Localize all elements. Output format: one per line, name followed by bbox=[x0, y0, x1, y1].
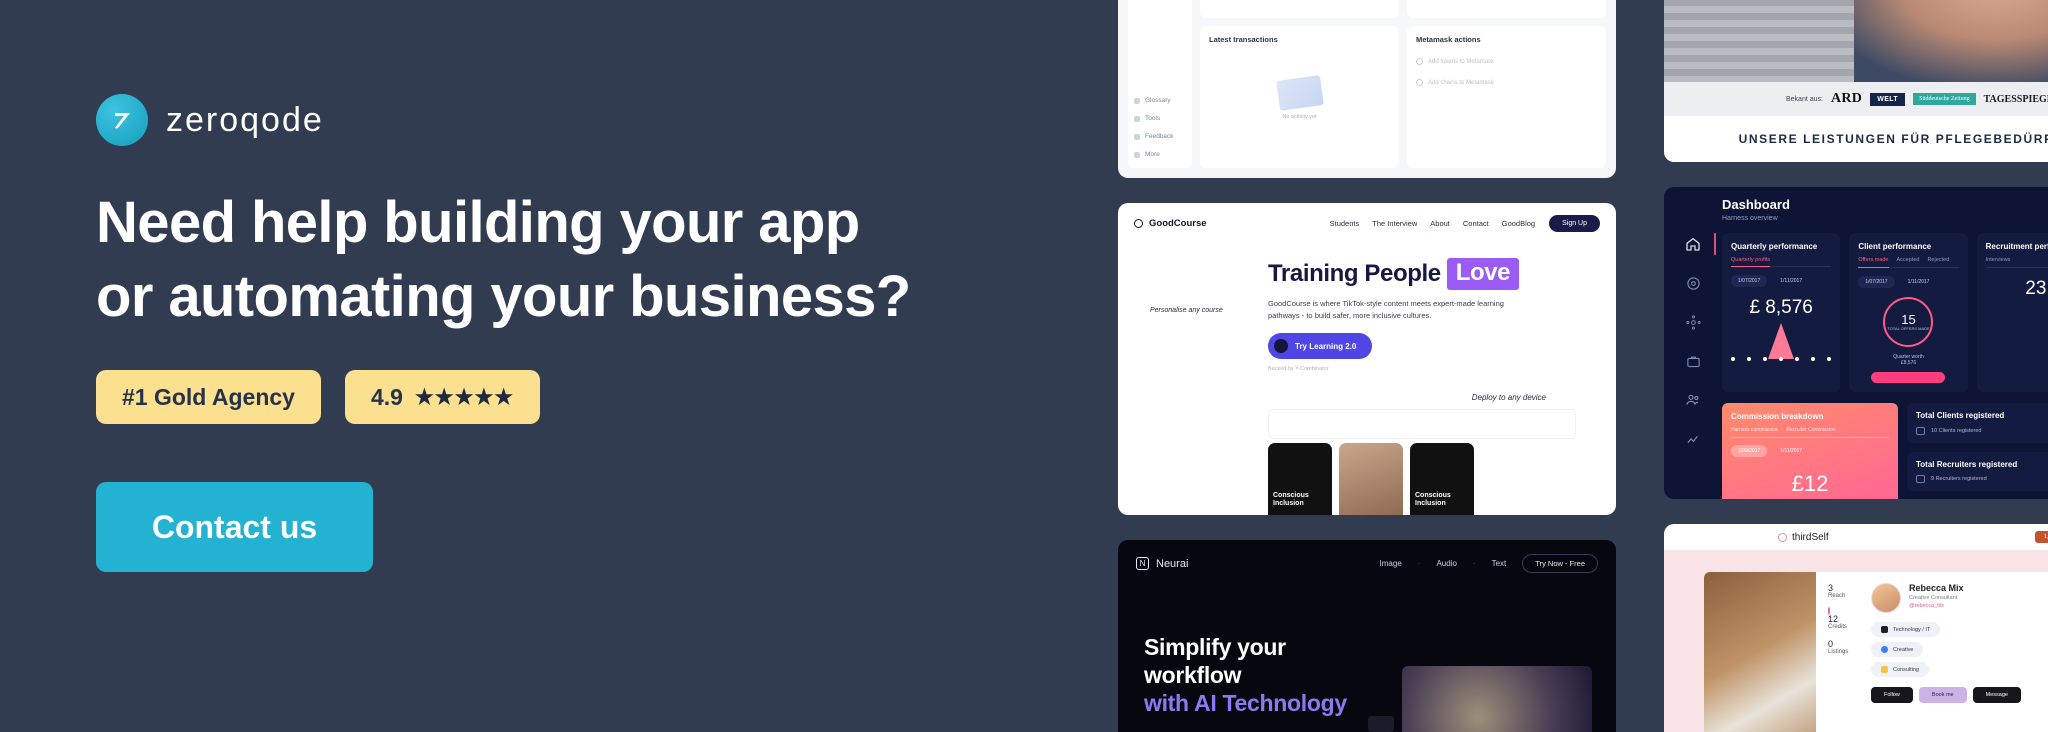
nav-item[interactable]: The Interview bbox=[1372, 219, 1417, 228]
list-item-recruiters: Total Recruiters registered 9 Recruiters… bbox=[1907, 452, 2048, 491]
panel-recruitment-performance: Recruitment performance Interviews 23 bbox=[1977, 233, 2048, 392]
quarter-worth-value: £8,576 bbox=[1858, 360, 1958, 366]
empty-text: No activity yet bbox=[1282, 114, 1316, 120]
stat-label: Listings bbox=[1828, 649, 1848, 655]
list-item[interactable]: Add chains to Metamask bbox=[1416, 72, 1597, 93]
goodcourse-headline: Training People Love bbox=[1268, 258, 1590, 290]
view-details-button[interactable] bbox=[1871, 372, 1945, 383]
ring-label: TOTAL OFFERS MADE bbox=[1887, 327, 1929, 332]
phone-mockup: Conscious Inclusion bbox=[1268, 443, 1332, 515]
network-icon bbox=[1916, 475, 1925, 483]
goodcourse-nav: GoodCourse Students The Interview About … bbox=[1118, 203, 1616, 244]
care-tagline: UNSERE LEISTUNGEN FÜR PFLEGEBEDÜRFTIGE bbox=[1664, 116, 2048, 162]
nav-item[interactable]: Students bbox=[1330, 219, 1360, 228]
dashboard-panel-row: Quarterly performance Quarterly profits … bbox=[1722, 233, 2048, 392]
brand-label: Neurai bbox=[1156, 558, 1188, 570]
list-detail: 10 Clients registered bbox=[1931, 428, 1981, 434]
button-label: Try Learning 2.0 bbox=[1295, 342, 1356, 351]
tab-quarterly-profits[interactable]: Quarterly profits bbox=[1731, 257, 1770, 267]
badge-label: #1 Gold Agency bbox=[122, 384, 295, 411]
headline-line-3: with AI Technology bbox=[1144, 690, 1347, 716]
message-button[interactable]: Message bbox=[1973, 687, 2021, 703]
panel-title: Recruitment performance bbox=[1986, 242, 2048, 251]
people-icon[interactable] bbox=[1684, 391, 1702, 409]
headline-line-2: workflow bbox=[1144, 662, 1241, 688]
headline-text: Training People bbox=[1268, 260, 1441, 288]
crypto-checks-panel: Extended wallet investigation Wallet san… bbox=[1407, 0, 1606, 18]
panel-title: Quarterly performance bbox=[1731, 242, 1831, 251]
neurai-chip bbox=[1368, 716, 1394, 732]
neurai-portrait-image bbox=[1402, 666, 1592, 732]
headline-line-1: Simplify your bbox=[1144, 634, 1286, 660]
action-label: Add chains to Metamask bbox=[1428, 80, 1494, 86]
stat-label: Credits bbox=[1828, 624, 1847, 630]
portfolio-column-2: Bekant aus: ARD WELT Süddeutsche Zeitung… bbox=[1664, 0, 2048, 732]
panel-title: Latest transactions bbox=[1209, 35, 1390, 44]
goodcourse-panel-bar bbox=[1268, 409, 1576, 439]
headline-highlight: Love bbox=[1447, 258, 1519, 290]
profile-panel: 3Reach 12Credits 0Listings Rebecca Mix C… bbox=[1704, 572, 2048, 732]
goodcourse-subtext: GoodCourse is where TikTok-style content… bbox=[1268, 298, 1518, 322]
book-me-button[interactable]: Book me bbox=[1919, 687, 1967, 703]
stat-value: 3 bbox=[1828, 583, 1860, 593]
list-item[interactable]: More bbox=[1134, 151, 1186, 158]
list-title: Total Recruiters registered bbox=[1916, 460, 2048, 469]
nav-links: Image · Audio · Text bbox=[1380, 559, 1507, 568]
star-rating-icon: ★★★★★ bbox=[415, 385, 514, 410]
list-item[interactable]: Add tokens to Metamask bbox=[1416, 51, 1597, 72]
circle-icon bbox=[1778, 533, 1787, 542]
spike-chart bbox=[1731, 325, 1831, 365]
follow-button[interactable]: Follow bbox=[1871, 687, 1913, 703]
thirdself-band: 3Reach 12Credits 0Listings Rebecca Mix C… bbox=[1664, 550, 2048, 732]
dashboard-body: Dashboard Harness overview Quarterly per… bbox=[1722, 197, 2048, 499]
portfolio-column-1: Glossary Tools Feedback More Metis$0.07 … bbox=[1118, 0, 1616, 732]
nav-separator: · bbox=[1473, 559, 1476, 568]
stat-value: 0 bbox=[1828, 639, 1860, 649]
press-logo-welt: WELT bbox=[1870, 93, 1905, 106]
commission-value: £12 bbox=[1731, 471, 1889, 497]
tag-label: Creative bbox=[1893, 647, 1913, 653]
annotation-personalise: Personalise any course bbox=[1150, 307, 1223, 314]
search-icon bbox=[1416, 58, 1423, 65]
date-chip[interactable]: 1/07/2017 bbox=[1858, 276, 1894, 288]
nav-item[interactable]: Audio bbox=[1436, 559, 1456, 568]
backed-by-label: Backed by Y-Combinator bbox=[1268, 366, 1590, 372]
background-slats bbox=[1664, 0, 1874, 82]
briefcase-icon[interactable] bbox=[1684, 352, 1702, 370]
date-chip[interactable]: 1/11/2017 bbox=[1773, 275, 1809, 287]
list-item[interactable]: Glossary bbox=[1134, 97, 1186, 104]
circle-icon bbox=[1134, 219, 1143, 228]
tag-technology[interactable]: Technology / IT bbox=[1871, 622, 1940, 637]
annotation-deploy: Deploy to any device bbox=[1472, 393, 1546, 403]
crypto-sidebar: Glossary Tools Feedback More bbox=[1128, 0, 1192, 168]
tab-recruiter-commission[interactable]: Recruiter Commission bbox=[1786, 427, 1835, 433]
badge-icon bbox=[1274, 339, 1288, 353]
tag-label: Technology / IT bbox=[1893, 627, 1930, 633]
press-logo-ard: ARD bbox=[1831, 91, 1862, 107]
panel-title: Client performance bbox=[1858, 242, 1958, 251]
portfolio-card-dashboard[interactable]: Dashboard Harness overview Quarterly per… bbox=[1664, 187, 2048, 499]
list-item[interactable]: Feedback bbox=[1134, 133, 1186, 140]
list-item[interactable]: Tools bbox=[1134, 115, 1186, 122]
hero-page: zeroqode Need help building your app or … bbox=[0, 0, 2048, 732]
nav-item[interactable]: Text bbox=[1492, 559, 1507, 568]
neurai-mark-icon: N bbox=[1136, 557, 1149, 570]
desk-photo bbox=[1704, 572, 1816, 732]
sidebar-item-label: Feedback bbox=[1145, 133, 1174, 140]
contact-us-button[interactable]: Contact us bbox=[96, 482, 373, 572]
date-chip[interactable]: 1/11/2017 bbox=[1773, 445, 1809, 457]
press-logos-bar: Bekant aus: ARD WELT Süddeutsche Zeitung… bbox=[1664, 82, 2048, 116]
portfolio-card-crypto[interactable]: Glossary Tools Feedback More Metis$0.07 … bbox=[1118, 0, 1616, 178]
neurai-nav: N Neurai Image · Audio · Text Try Now - … bbox=[1118, 540, 1616, 587]
nav-separator: · bbox=[1418, 559, 1421, 568]
panel-commission-breakdown: Commission breakdown Harness commission … bbox=[1722, 403, 1898, 499]
panel-title: Metamask actions bbox=[1416, 35, 1597, 44]
goodcourse-logo: GoodCourse bbox=[1134, 218, 1207, 229]
phone-caption: Conscious Inclusion bbox=[1415, 492, 1469, 508]
badge-row: #1 Gold Agency 4.9 ★★★★★ bbox=[96, 370, 1110, 424]
tab-harness-commission[interactable]: Harness commission bbox=[1731, 427, 1777, 433]
portfolio-card-thirdself[interactable]: thirdSelf 1,312 users currently viewing … bbox=[1664, 524, 2048, 732]
tab-rejected[interactable]: Rejected bbox=[1927, 257, 1949, 263]
panel-title: Commission breakdown bbox=[1731, 412, 1889, 421]
avatar bbox=[1871, 583, 1901, 613]
thirdself-logo: thirdSelf bbox=[1778, 532, 1829, 543]
tag-creative[interactable]: Creative bbox=[1871, 642, 1923, 657]
phone-mockup: Conscious Inclusion bbox=[1410, 443, 1474, 515]
action-label: Add tokens to Metamask bbox=[1428, 59, 1494, 65]
tab-offers-made[interactable]: Offers made bbox=[1858, 257, 1888, 268]
dashboard-title: Dashboard bbox=[1722, 197, 2048, 212]
portfolio-card-goodcourse[interactable]: GoodCourse Students The Interview About … bbox=[1118, 203, 1616, 515]
list-title: Total Clients registered bbox=[1916, 411, 2048, 420]
signup-button[interactable]: Sign Up bbox=[1549, 215, 1600, 232]
profile-name: Rebecca Mix bbox=[1909, 583, 1964, 593]
briefcase-icon bbox=[1916, 427, 1925, 435]
panel-quarterly-performance: Quarterly performance Quarterly profits … bbox=[1722, 233, 1840, 392]
try-now-button[interactable]: Try Now - Free bbox=[1522, 554, 1598, 573]
nav-item[interactable]: Contact bbox=[1463, 219, 1489, 228]
dashboard-sidebar-rail bbox=[1664, 197, 1722, 499]
phone-caption: Conscious Inclusion bbox=[1273, 492, 1327, 508]
sidebar-item-label: Tools bbox=[1145, 115, 1160, 122]
home-icon[interactable] bbox=[1684, 235, 1702, 253]
offers-ring-gauge: 15 TOTAL OFFERS MADE bbox=[1883, 297, 1933, 347]
sidebar-item-label: Glossary bbox=[1145, 97, 1171, 104]
list-detail: 9 Recruiters registered bbox=[1931, 476, 1987, 482]
target-icon[interactable] bbox=[1684, 274, 1702, 292]
quarter-worth-block: Quarter worth £8,576 bbox=[1858, 354, 1958, 366]
profile-details: Rebecca Mix Creative Consultant @rebecca… bbox=[1871, 583, 2045, 732]
brand-label: thirdSelf bbox=[1792, 532, 1829, 543]
tag-consulting[interactable]: Consulting bbox=[1871, 662, 1929, 677]
date-chip[interactable]: 1/09/2017 bbox=[1731, 445, 1767, 457]
rating-value: 4.9 bbox=[371, 384, 403, 411]
live-viewers-badge: 1,312 users currently viewing right now bbox=[2035, 531, 2048, 543]
nav-item[interactable]: Image bbox=[1380, 559, 1402, 568]
try-learning-button[interactable]: Try Learning 2.0 bbox=[1268, 333, 1372, 359]
press-logo-sz: Süddeutsche Zeitung bbox=[1913, 93, 1976, 105]
crypto-token-panel: Metis$0.07 BSC$0.34 Celo$0.60 bbox=[1200, 0, 1399, 18]
brand-label: GoodCourse bbox=[1149, 218, 1207, 229]
profile-actions: Follow Book me Message bbox=[1871, 687, 2045, 703]
press-label: Bekant aus: bbox=[1786, 96, 1823, 103]
sidebar-item-label: More bbox=[1145, 151, 1160, 158]
metric-value: £ 8,576 bbox=[1731, 297, 1831, 319]
hero-section: zeroqode Need help building your app or … bbox=[0, 0, 1110, 732]
goodcourse-phone-mockups: Conscious Inclusion Conscious Inclusion bbox=[1268, 443, 1474, 515]
date-chip[interactable]: 1/11/2017 bbox=[1901, 276, 1937, 288]
search-icon bbox=[1416, 79, 1423, 86]
person-photo bbox=[1854, 0, 2048, 82]
portfolio-card-neurai[interactable]: N Neurai Image · Audio · Text Try Now - … bbox=[1118, 540, 1616, 732]
list-item-clients: Total Clients registered 10 Clients regi… bbox=[1907, 403, 2048, 443]
portfolio-card-german-care[interactable]: Bekant aus: ARD WELT Süddeutsche Zeitung… bbox=[1664, 0, 2048, 162]
profile-tags: Technology / IT Creative Consulting bbox=[1871, 622, 2045, 677]
nav-links: Students The Interview About Contact Goo… bbox=[1330, 219, 1535, 228]
metric-value: 23 bbox=[1986, 278, 2048, 300]
press-logo-tagesspiegel: TAGESSPIEGEL bbox=[1984, 94, 2048, 105]
brand-name: zeroqode bbox=[166, 101, 324, 140]
page-title: Need help building your app or automatin… bbox=[96, 194, 1110, 326]
network-icon[interactable] bbox=[1684, 313, 1702, 331]
care-photo bbox=[1664, 0, 2048, 82]
profile-role: Creative Consultant bbox=[1909, 595, 1964, 601]
date-chip[interactable]: 1/07/2017 bbox=[1731, 275, 1767, 287]
ring-value: 15 bbox=[1901, 312, 1915, 327]
status-badge-gold-agency: #1 Gold Agency bbox=[96, 370, 321, 424]
nav-item[interactable]: GoodBlog bbox=[1502, 219, 1535, 228]
dashboard-lower-row: Commission breakdown Harness commission … bbox=[1722, 403, 2048, 499]
headline-line-2: or automating your business? bbox=[96, 268, 1110, 326]
profile-stats: 3Reach 12Credits 0Listings bbox=[1828, 583, 1860, 732]
stat-value: 12 bbox=[1828, 614, 1860, 624]
profile-handle[interactable]: @rebecca_itis bbox=[1909, 603, 1964, 609]
panel-client-performance: Client performance Offers made Accepted … bbox=[1849, 233, 1967, 392]
chart-icon[interactable] bbox=[1684, 430, 1702, 448]
status-badge-rating: 4.9 ★★★★★ bbox=[345, 370, 540, 424]
neurai-logo: N Neurai bbox=[1136, 557, 1188, 570]
empty-illustration-icon bbox=[1276, 75, 1324, 111]
tab-interviews[interactable]: Interviews bbox=[1986, 257, 2011, 263]
zeroqode-z-logo-icon bbox=[96, 94, 148, 146]
tag-label: Consulting bbox=[1893, 667, 1919, 673]
brand-logo[interactable]: zeroqode bbox=[96, 92, 1110, 148]
phone-mockup-portrait bbox=[1339, 443, 1403, 515]
tab-accepted[interactable]: Accepted bbox=[1897, 257, 1920, 263]
headline-line-1: Need help building your app bbox=[96, 194, 1110, 252]
crypto-actions-panel: Metamask actions Add tokens to Metamask … bbox=[1407, 26, 1606, 168]
empty-state: No activity yet bbox=[1209, 51, 1390, 147]
crypto-transactions-panel: Latest transactions No activity yet bbox=[1200, 26, 1399, 168]
thirdself-topbar: thirdSelf 1,312 users currently viewing … bbox=[1664, 524, 2048, 550]
stat-label: Reach bbox=[1828, 593, 1845, 599]
dashboard-subtitle: Harness overview bbox=[1722, 215, 2048, 222]
nav-item[interactable]: About bbox=[1430, 219, 1450, 228]
